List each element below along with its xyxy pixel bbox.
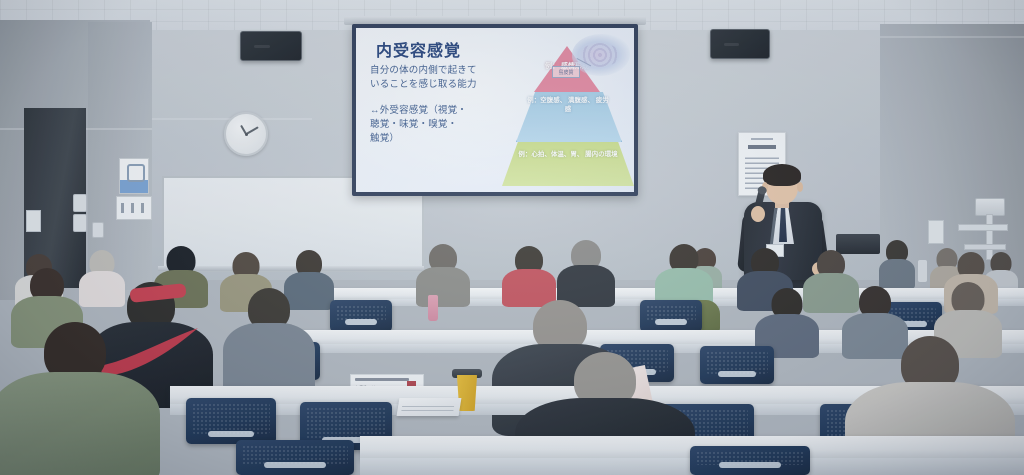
pyramid-tier-bottom <box>502 142 634 186</box>
wall-plate <box>26 210 41 232</box>
light-switch[interactable] <box>73 214 87 232</box>
brain-callout-label: 島皮質 <box>552 66 580 78</box>
attendee <box>562 240 610 304</box>
handout-papers <box>397 398 462 416</box>
slide-body-paragraph-1: 自分の体の内側で起きて いることを感じ取る能力 <box>370 64 502 92</box>
pyramid-tier-middle-label: 例：空腹感、 満腹感、 疲労感 <box>524 96 612 114</box>
attendee <box>760 288 814 354</box>
light-switch[interactable] <box>73 194 87 212</box>
projected-slide: 内受容感覚 自分の体の内側で起きて いることを感じ取る能力 ↔外受容感覚（視覚・… <box>356 28 634 192</box>
lecture-chair[interactable] <box>700 346 774 384</box>
wall-outlet-box <box>928 220 944 244</box>
ceiling-speaker-left-icon <box>240 31 302 61</box>
lecture-chair[interactable] <box>690 446 810 475</box>
wall-seam <box>880 36 1024 38</box>
lecture-chair[interactable] <box>640 300 702 332</box>
presenter-hair <box>763 164 801 186</box>
attendee-body <box>416 267 470 307</box>
wall-sign-pictogram <box>119 158 149 194</box>
slide-body-line-2: いることを感じ取る能力 <box>370 78 502 92</box>
attendee-body <box>223 323 315 395</box>
slide-body-line-4: 聴覚・味覚・嗅覚・ <box>370 118 506 132</box>
presenter-ear <box>797 182 803 192</box>
slide-body-paragraph-2: ↔外受容感覚（視覚・ 聴覚・味覚・嗅覚・ 触覚） <box>370 104 506 146</box>
attendee <box>506 246 552 304</box>
projector-arm <box>964 244 1006 250</box>
lecture-chair[interactable] <box>330 300 392 332</box>
attendee <box>10 322 140 475</box>
slide-title: 内受容感覚 <box>376 37 461 61</box>
wall-clock <box>224 112 268 156</box>
lecture-hall-photo: お手洗いは 1階にあります 内受容感覚 自分の体の内側で起きて いることを感じ取… <box>0 0 1024 475</box>
projector-arm <box>958 224 1008 231</box>
slide-body-line-3: ↔外受容感覚（視覚・ <box>370 104 506 118</box>
light-switch[interactable] <box>92 222 104 238</box>
wall-sign-notice <box>116 196 152 220</box>
pyramid-tier-bottom-label: 例：心拍、体温、胃、 腸内の環境 <box>516 150 620 159</box>
attendee-body <box>879 259 915 289</box>
wall-bottle <box>918 260 927 282</box>
attendee <box>230 288 308 388</box>
ceiling-speaker-right-icon <box>710 29 770 59</box>
lecture-chair[interactable] <box>236 440 354 475</box>
presenter-hand <box>751 206 765 222</box>
slide-body-line-1: 自分の体の内側で起きて <box>370 64 502 78</box>
lecture-chair[interactable] <box>186 398 276 444</box>
attendee <box>882 240 912 288</box>
slide-body-line-5: 触覚） <box>370 132 506 146</box>
drink-bottle <box>428 295 438 321</box>
attendee <box>420 244 466 304</box>
attendee <box>660 244 708 306</box>
attendee-body <box>0 372 160 475</box>
